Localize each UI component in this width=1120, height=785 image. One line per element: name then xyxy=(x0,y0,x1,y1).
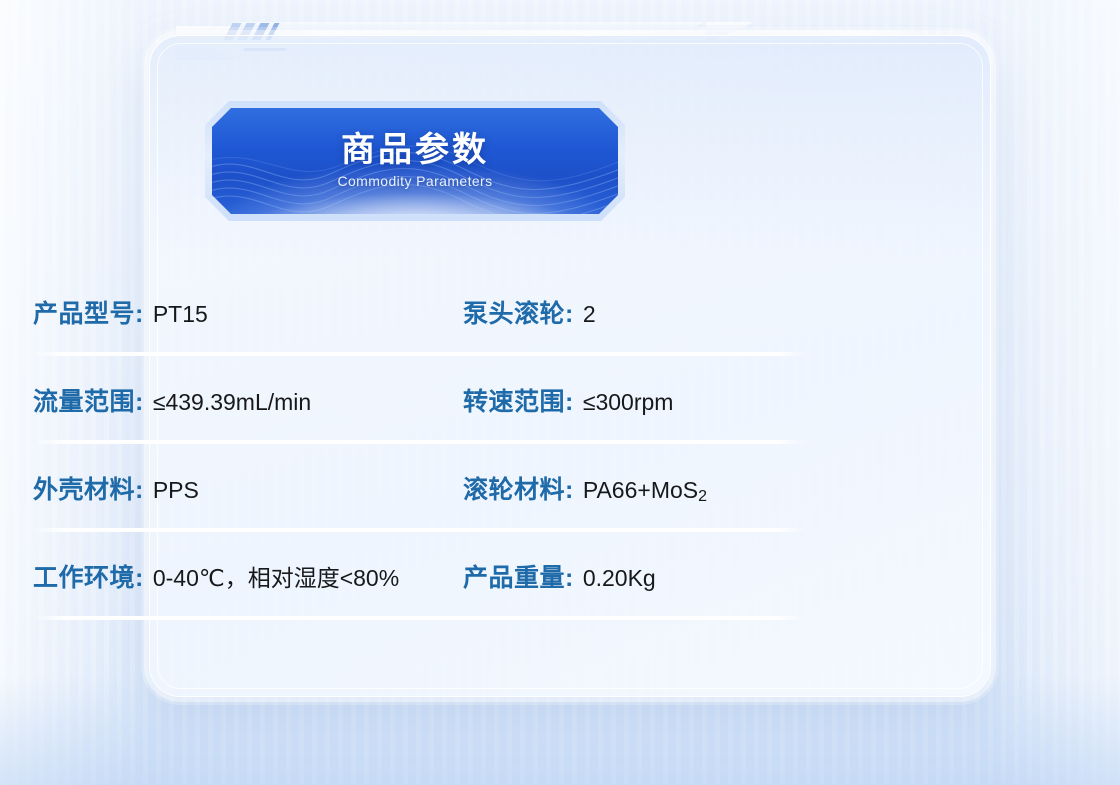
spec-row-divider xyxy=(33,616,807,620)
spec-value-subscript: 2 xyxy=(698,488,707,505)
spec-cell-left: 工作环境:0-40℃，相对湿度<80% xyxy=(33,558,463,594)
spec-value: 0.20Kg xyxy=(583,565,656,592)
spec-cell-left: 外壳材料:PPS xyxy=(33,470,463,506)
banner-title-cn: 商品参数 xyxy=(341,133,489,169)
spec-value: PPS xyxy=(153,477,199,504)
spec-value: PA66+MoS2 xyxy=(583,477,707,504)
spec-label: 滚轮材料: xyxy=(463,470,574,506)
spec-cell-right: 滚轮材料:PA66+MoS2 xyxy=(463,470,807,506)
product-spec-page: 商品参数 Commodity Parameters 产品型号:PT15泵头滚轮:… xyxy=(0,0,1120,785)
spec-value: ≤300rpm xyxy=(583,389,674,416)
spec-label: 产品型号: xyxy=(33,294,144,330)
section-header-banner: 商品参数 Commodity Parameters xyxy=(205,101,625,221)
spec-value: 2 xyxy=(583,301,596,328)
spec-cell-left: 流量范围:≤439.39mL/min xyxy=(33,382,463,418)
spec-row: 产品型号:PT15泵头滚轮:2 xyxy=(33,268,807,356)
spec-cell-right: 转速范围:≤300rpm xyxy=(463,382,807,418)
spec-label: 转速范围: xyxy=(463,382,574,418)
banner-body: 商品参数 Commodity Parameters xyxy=(212,108,618,214)
spec-label: 外壳材料: xyxy=(33,470,144,506)
spec-row: 流量范围:≤439.39mL/min转速范围:≤300rpm xyxy=(33,356,807,444)
spec-cell-right: 泵头滚轮:2 xyxy=(463,294,807,330)
spec-cell-right: 产品重量:0.20Kg xyxy=(463,558,807,594)
spec-label: 流量范围: xyxy=(33,382,144,418)
spec-label: 泵头滚轮: xyxy=(463,294,574,330)
spec-cell-left: 产品型号:PT15 xyxy=(33,294,463,330)
spec-row: 外壳材料:PPS滚轮材料:PA66+MoS2 xyxy=(33,444,807,532)
spec-label: 工作环境: xyxy=(33,558,144,594)
right-gradient-wash xyxy=(990,0,1120,785)
spec-value: ≤439.39mL/min xyxy=(153,389,311,416)
spec-value: PT15 xyxy=(153,301,208,328)
spec-value: 0-40℃，相对湿度<80% xyxy=(153,559,399,593)
banner-title-en: Commodity Parameters xyxy=(337,173,492,189)
spec-label: 产品重量: xyxy=(463,558,574,594)
spec-row: 工作环境:0-40℃，相对湿度<80%产品重量:0.20Kg xyxy=(33,532,807,620)
spec-table: 产品型号:PT15泵头滚轮:2流量范围:≤439.39mL/min转速范围:≤3… xyxy=(33,268,807,620)
